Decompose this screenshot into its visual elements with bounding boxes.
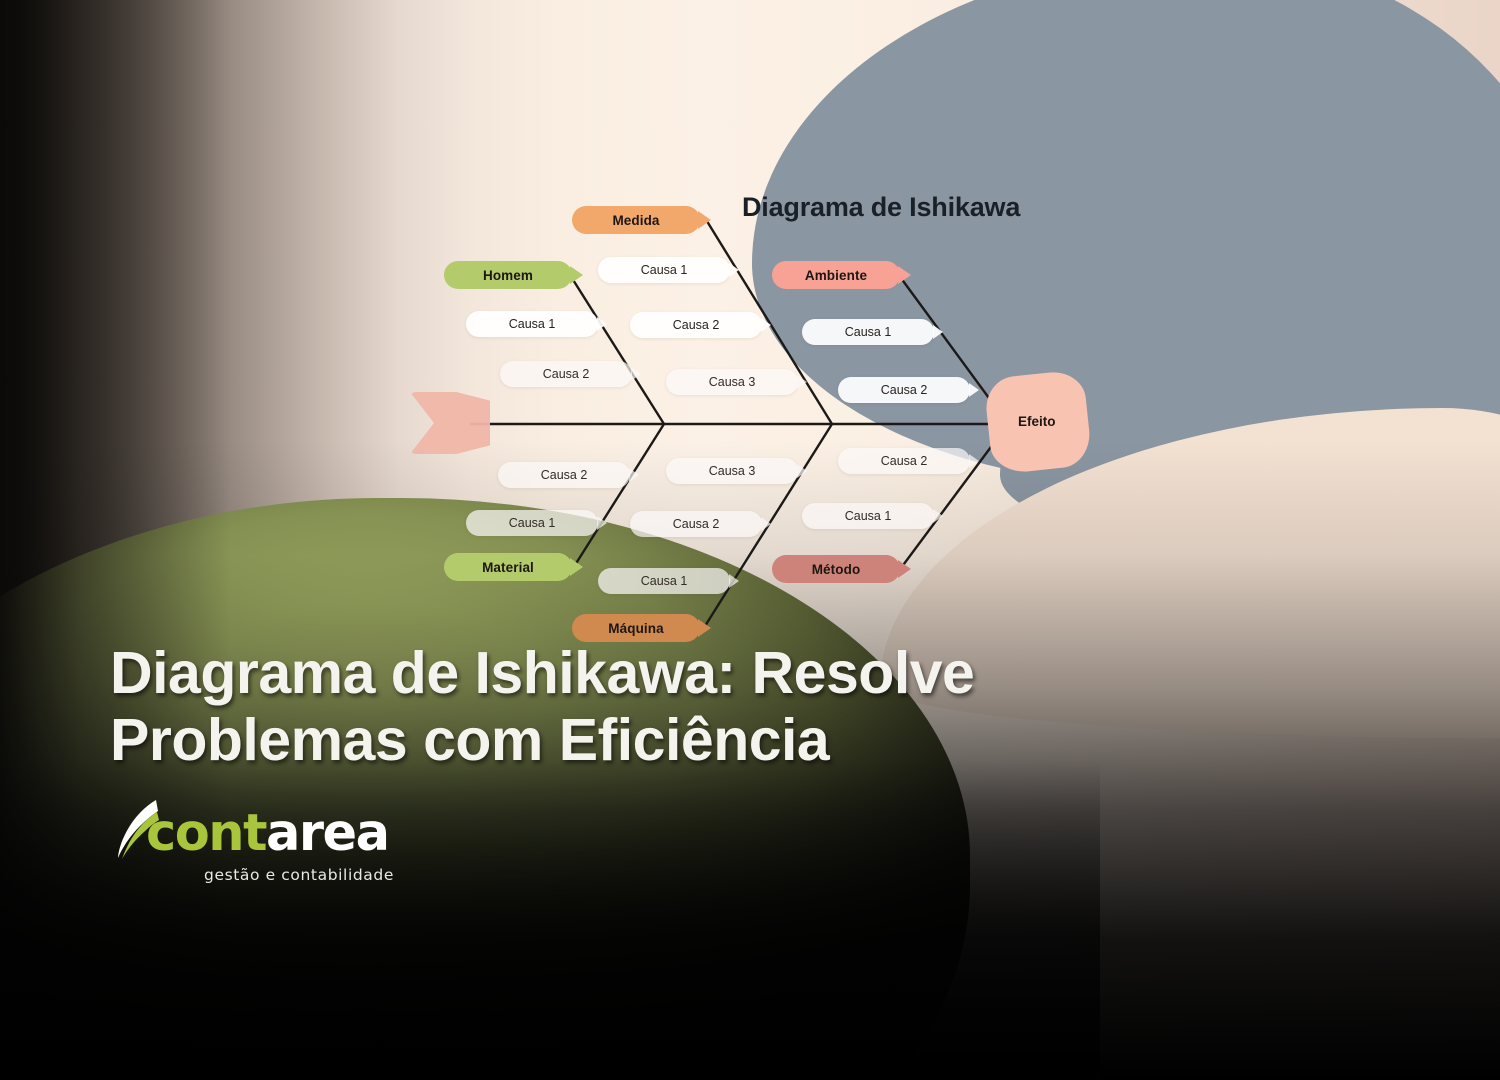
cause-box[interactable]: Causa 2: [630, 312, 762, 338]
pill-tip-icon: [898, 266, 911, 284]
category-pill-medida[interactable]: Medida: [572, 206, 700, 234]
cause-label: Causa 1: [845, 509, 892, 523]
cause-tip-icon: [629, 468, 639, 482]
cause-tip-icon: [797, 375, 807, 389]
cause-box[interactable]: Causa 2: [500, 361, 632, 387]
cause-label: Causa 1: [509, 317, 556, 331]
cause-tip-icon: [761, 517, 771, 531]
effect-label: Efeito: [1018, 414, 1056, 429]
fishbone-skeleton: [0, 0, 1500, 700]
headline-line-2: Problemas com Eficiência: [110, 707, 1110, 774]
cause-label: Causa 1: [641, 263, 688, 277]
category-label-ambiente: Ambiente: [789, 268, 883, 283]
pill-tip-icon: [698, 211, 711, 229]
cause-tip-icon: [729, 574, 739, 588]
cause-tip-icon: [969, 454, 979, 468]
cause-label: Causa 3: [709, 464, 756, 478]
cause-tip-icon: [597, 317, 607, 331]
headline-line-1: Diagrama de Ishikawa: Resolve: [110, 640, 1110, 707]
page-headline: Diagrama de Ishikawa: Resolve Problemas …: [110, 640, 1110, 773]
cause-tip-icon: [597, 516, 607, 530]
category-label-homem: Homem: [467, 268, 549, 283]
logo-text: contarea: [146, 804, 389, 863]
cause-tip-icon: [761, 318, 771, 332]
cause-tip-icon: [729, 263, 739, 277]
pill-tip-icon: [698, 619, 711, 637]
cause-box[interactable]: Causa 1: [466, 510, 598, 536]
cause-label: Causa 2: [541, 468, 588, 482]
category-label-maquina: Máquina: [592, 621, 679, 636]
cause-label: Causa 3: [709, 375, 756, 389]
cause-box[interactable]: Causa 2: [838, 448, 970, 474]
cause-label: Causa 2: [673, 517, 720, 531]
logo-tagline: gestão e contabilidade: [204, 866, 394, 884]
category-pill-homem[interactable]: Homem: [444, 261, 572, 289]
category-label-metodo: Método: [796, 562, 877, 577]
pill-tip-icon: [570, 558, 583, 576]
cause-box[interactable]: Causa 1: [802, 503, 934, 529]
cause-label: Causa 2: [543, 367, 590, 381]
category-label-medida: Medida: [596, 213, 675, 228]
cause-tip-icon: [969, 383, 979, 397]
logo-text-area: area: [266, 804, 389, 863]
cause-box[interactable]: Causa 1: [598, 568, 730, 594]
pill-tip-icon: [898, 560, 911, 578]
cause-box[interactable]: Causa 3: [666, 369, 798, 395]
cause-box[interactable]: Causa 1: [466, 311, 598, 337]
category-label-material: Material: [466, 560, 550, 575]
category-pill-material[interactable]: Material: [444, 553, 572, 581]
pill-tip-icon: [570, 266, 583, 284]
cause-box[interactable]: Causa 1: [598, 257, 730, 283]
poster-canvas: Efeito Diagrama de Ishikawa Medida Homem…: [0, 0, 1500, 1080]
logo-text-cont: cont: [146, 804, 266, 863]
cause-box[interactable]: Causa 2: [630, 511, 762, 537]
category-pill-metodo[interactable]: Método: [772, 555, 900, 583]
category-pill-ambiente[interactable]: Ambiente: [772, 261, 900, 289]
cause-box[interactable]: Causa 1: [802, 319, 934, 345]
cause-label: Causa 1: [845, 325, 892, 339]
fish-tail-shape: [410, 392, 490, 454]
cause-tip-icon: [797, 464, 807, 478]
cause-label: Causa 2: [881, 454, 928, 468]
category-pill-maquina[interactable]: Máquina: [572, 614, 700, 642]
cause-tip-icon: [933, 325, 943, 339]
cause-box[interactable]: Causa 3: [666, 458, 798, 484]
cause-label: Causa 1: [641, 574, 688, 588]
cause-tip-icon: [631, 367, 641, 381]
ishikawa-diagram: Efeito Diagrama de Ishikawa Medida Homem…: [0, 0, 1500, 1080]
cause-label: Causa 1: [509, 516, 556, 530]
cause-tip-icon: [933, 509, 943, 523]
logo-wordmark: contarea: [112, 800, 452, 862]
brand-logo[interactable]: contarea gestão e contabilidade: [112, 800, 452, 862]
cause-label: Causa 2: [673, 318, 720, 332]
cause-box[interactable]: Causa 2: [838, 377, 970, 403]
cause-box[interactable]: Causa 2: [498, 462, 630, 488]
cause-label: Causa 2: [881, 383, 928, 397]
diagram-title: Diagrama de Ishikawa: [742, 192, 1020, 223]
